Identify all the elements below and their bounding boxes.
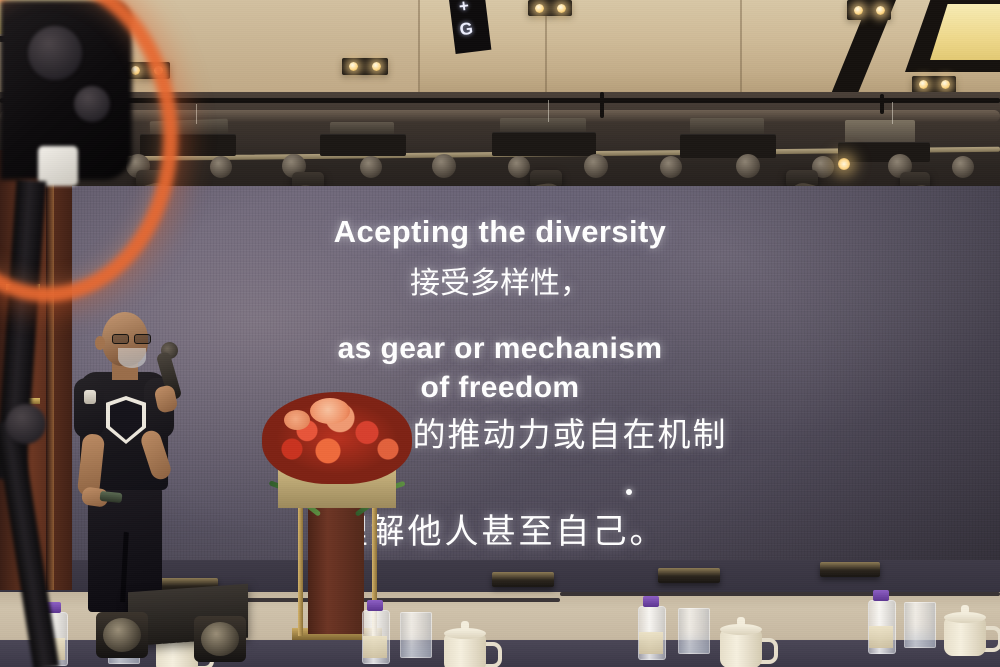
hanging-wire xyxy=(196,104,197,124)
conference-stage-photo: + G xyxy=(0,0,1000,667)
pedestal-column xyxy=(308,504,364,634)
cup-lid-knob xyxy=(461,621,469,630)
bulb-icon xyxy=(941,80,950,89)
pedestal-rail-left xyxy=(298,498,303,636)
stage-light-body xyxy=(320,134,406,156)
water-bottle xyxy=(638,596,664,658)
presentation-clicker xyxy=(100,491,123,503)
lit-lamp-icon xyxy=(838,158,850,170)
bulb-icon xyxy=(535,4,544,13)
floor-par-light xyxy=(96,612,148,658)
tea-cup xyxy=(440,620,494,667)
ceiling-sign-panel: + G xyxy=(449,0,492,54)
drinking-glass xyxy=(400,612,432,658)
floor-cable xyxy=(560,592,1000,596)
speaker-person xyxy=(62,312,194,610)
stage-light-body xyxy=(492,132,596,156)
bottle-cap xyxy=(643,596,659,607)
light-lens xyxy=(210,156,232,178)
cup-body xyxy=(944,618,986,656)
downlight-fixture xyxy=(912,76,956,93)
bottle-cap xyxy=(367,600,383,611)
stage-light-body xyxy=(680,134,776,158)
bulb-icon xyxy=(349,62,358,71)
par-lens xyxy=(201,622,239,656)
bulb-icon xyxy=(372,62,381,71)
ceiling-seam xyxy=(740,0,742,96)
water-bottle xyxy=(868,590,894,652)
water-bottle xyxy=(362,600,388,662)
light-lens xyxy=(952,156,974,178)
cup-lid-knob xyxy=(737,617,745,626)
bottle-cap xyxy=(873,590,889,601)
drinking-glass xyxy=(678,608,710,654)
flower-pedestal xyxy=(262,392,412,644)
floor-uplight xyxy=(820,562,880,577)
drinking-glass xyxy=(904,602,936,648)
light-lens xyxy=(432,154,456,178)
hanging-wire xyxy=(892,102,893,124)
light-lens xyxy=(584,154,608,178)
downlight-fixture xyxy=(528,0,572,16)
downlight-fixture xyxy=(342,58,388,75)
light-lens xyxy=(736,154,760,178)
par-lens xyxy=(103,618,141,652)
lily-petal xyxy=(284,410,310,430)
bottle-label xyxy=(639,632,663,654)
downlight-fixture xyxy=(847,0,891,20)
floor-par-light xyxy=(194,616,246,662)
stage-light-body xyxy=(838,142,930,162)
sign-glyph-bottom: G xyxy=(459,20,474,38)
ceiling-seam xyxy=(418,0,420,96)
tripod-head-knob xyxy=(6,404,46,444)
bottle-label xyxy=(869,626,893,648)
ear xyxy=(95,336,105,350)
cup-handle xyxy=(760,638,778,664)
logo-inner-shape xyxy=(110,400,142,440)
drop-cable xyxy=(600,92,604,118)
sign-glyph-top: + xyxy=(458,0,470,15)
tea-cup xyxy=(940,604,994,656)
lily-petal xyxy=(310,398,350,424)
light-lens xyxy=(508,156,530,178)
shirt-patch xyxy=(84,390,96,404)
floor-uplight xyxy=(658,568,720,583)
glasses-icon xyxy=(112,334,150,342)
cup-handle xyxy=(984,626,1000,652)
bottle-label xyxy=(363,636,387,658)
bulb-icon xyxy=(876,6,885,15)
tea-cup xyxy=(716,616,770,667)
light-lens xyxy=(360,156,382,178)
cup-lid-knob xyxy=(961,605,969,614)
sleeve-left xyxy=(74,378,104,438)
drop-cable xyxy=(880,94,884,114)
beard xyxy=(118,348,146,368)
bulb-icon xyxy=(854,6,863,15)
cup-handle xyxy=(484,642,502,667)
hanging-wire xyxy=(548,100,549,122)
cup-body xyxy=(720,630,762,667)
bulb-icon xyxy=(557,4,566,13)
light-lens xyxy=(660,156,682,178)
floor-uplight xyxy=(492,572,554,587)
bulb-icon xyxy=(919,80,928,89)
